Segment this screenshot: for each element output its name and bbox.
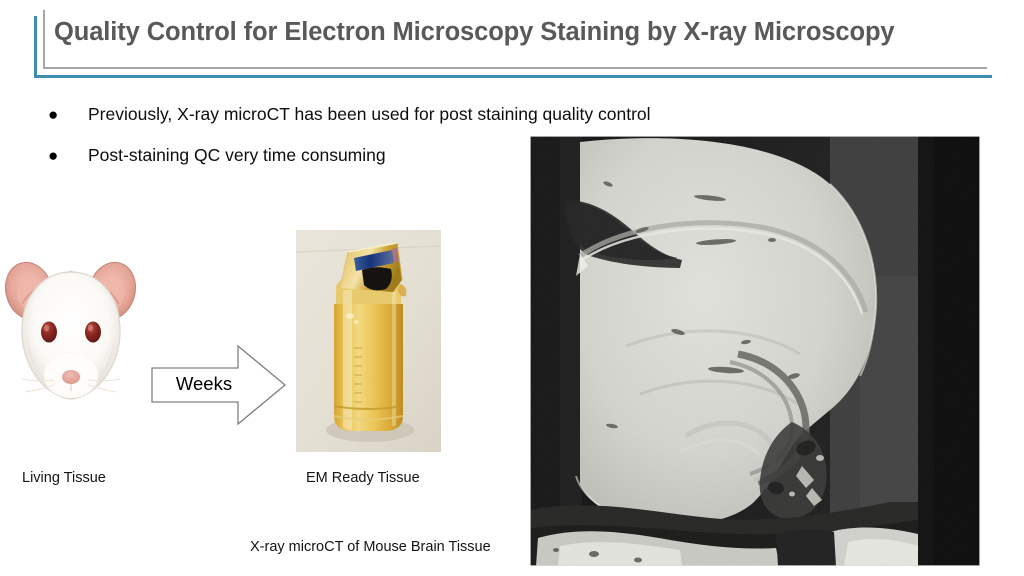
title-rule-horizontal-gray	[43, 67, 987, 69]
caption-microct-image: X-ray microCT of Mouse Brain Tissue	[250, 538, 491, 556]
specimen-vial-photo	[296, 230, 441, 452]
microct-grayscale-image	[530, 136, 980, 566]
title-rule-vertical-blue	[34, 16, 37, 78]
caption-living-tissue: Living Tissue	[22, 469, 106, 487]
list-item: ● Previously, X-ray microCT has been use…	[44, 104, 764, 126]
title-rule-horizontal-blue	[34, 75, 992, 78]
arrow-label: Weeks	[162, 372, 246, 396]
bullet-dot-icon: ●	[44, 104, 88, 125]
bullet-text: Post-staining QC very time consuming	[88, 145, 386, 166]
right-block-arrow-icon: Weeks	[150, 344, 287, 426]
page-title: Quality Control for Electron Microscopy …	[54, 18, 992, 47]
bullet-text: Previously, X-ray microCT has been used …	[88, 104, 651, 125]
bullet-dot-icon: ●	[44, 145, 88, 166]
title-rule-vertical-gray	[43, 10, 45, 68]
caption-em-ready-tissue: EM Ready Tissue	[306, 469, 420, 487]
slide-canvas: Quality Control for Electron Microscopy …	[0, 0, 1024, 576]
white-lab-mouse-icon	[2, 246, 142, 446]
title-block: Quality Control for Electron Microscopy …	[34, 10, 996, 78]
